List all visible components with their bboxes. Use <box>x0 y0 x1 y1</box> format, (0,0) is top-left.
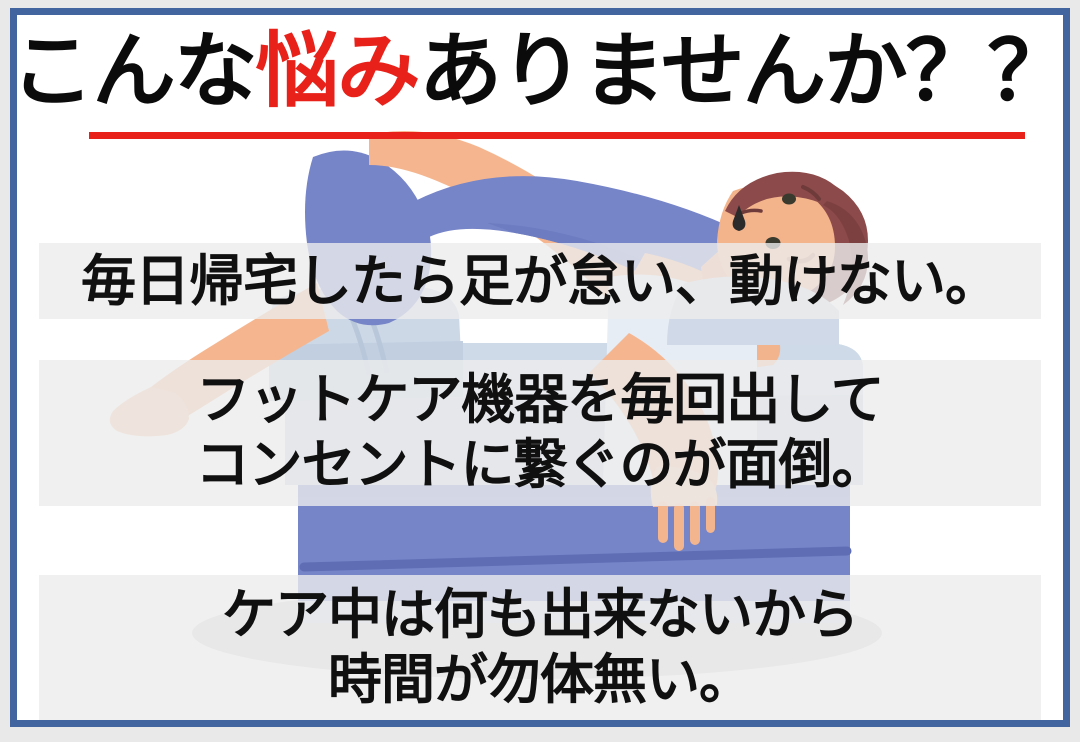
pain-point-band-1: 毎日帰宅したら足が怠い、動けない。 <box>39 243 1041 319</box>
band-2-line-2: コンセントに繋ぐのが面倒。 <box>196 433 885 498</box>
poster-frame: こんな悩みありませんか？？ 毎日帰宅したら足が怠い、動けない。 フットケア機器を… <box>10 8 1070 727</box>
pain-point-band-2: フットケア機器を毎回出して コンセントに繋ぐのが面倒。 <box>39 360 1041 506</box>
band-3-line-1: ケア中は何も出来ないから <box>222 583 858 648</box>
pain-point-band-3: ケア中は何も出来ないから 時間が勿体無い。 <box>39 575 1041 721</box>
band-2-line-1: フットケア機器を毎回出して <box>196 368 883 433</box>
poster-canvas: こんな悩みありませんか？？ 毎日帰宅したら足が怠い、動けない。 フットケア機器を… <box>0 0 1080 742</box>
band-1-line-1: 毎日帰宅したら足が怠い、動けない。 <box>81 248 999 314</box>
band-3-line-2: 時間が勿体無い。 <box>328 648 752 713</box>
headline-underline <box>89 132 1025 139</box>
eye-upper <box>782 194 796 205</box>
